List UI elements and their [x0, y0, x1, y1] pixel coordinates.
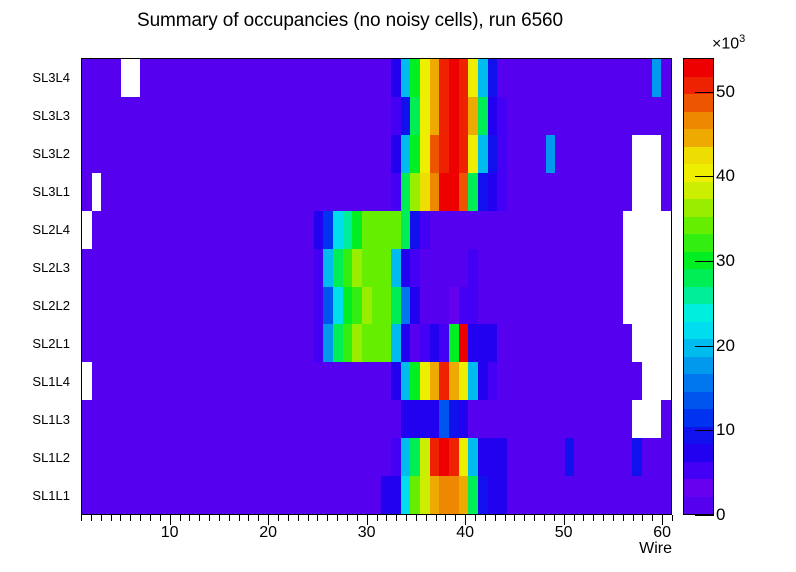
heatmap-cell: [92, 438, 102, 476]
heatmap-cell: [179, 173, 189, 211]
heatmap-cell: [372, 59, 382, 97]
x-axis-minor-tick: [524, 515, 525, 521]
heatmap-cell: [632, 324, 642, 362]
heatmap-cell: [169, 362, 179, 400]
heatmap-cell: [517, 97, 527, 135]
heatmap-cell: [632, 287, 642, 325]
heatmap-cell: [468, 59, 478, 97]
heatmap-cell: [314, 211, 324, 249]
heatmap-cell: [111, 438, 121, 476]
heatmap-cell: [130, 249, 140, 287]
heatmap-cell: [536, 362, 546, 400]
heatmap-cell: [227, 211, 237, 249]
y-axis-label: SL1L3: [0, 401, 77, 439]
heatmap-cell: [584, 476, 594, 514]
heatmap-cell: [121, 59, 131, 97]
heatmap-cell: [603, 97, 613, 135]
heatmap-cell: [314, 173, 324, 211]
heatmap-cell: [275, 59, 285, 97]
heatmap-cell: [198, 135, 208, 173]
heatmap-cell: [179, 59, 189, 97]
heatmap-row: [82, 173, 671, 211]
heatmap-cell: [555, 400, 565, 438]
heatmap-cell: [333, 173, 343, 211]
heatmap-cell: [217, 211, 227, 249]
x-axis-minor-tick: [495, 515, 496, 521]
heatmap-cell: [159, 287, 169, 325]
heatmap-cell: [536, 324, 546, 362]
heatmap-cell: [661, 324, 671, 362]
heatmap-cell: [478, 135, 488, 173]
heatmap-cell: [449, 362, 459, 400]
heatmap-cell: [642, 287, 652, 325]
heatmap-cell: [314, 59, 324, 97]
heatmap-cell: [372, 97, 382, 135]
colorbar-exponent-power: 3: [739, 33, 745, 45]
heatmap-cell: [632, 400, 642, 438]
heatmap-cell: [381, 173, 391, 211]
heatmap-cell: [198, 59, 208, 97]
heatmap-cell: [130, 211, 140, 249]
heatmap-cell: [188, 287, 198, 325]
heatmap-cell: [333, 249, 343, 287]
heatmap-cell: [410, 249, 420, 287]
heatmap-cell: [459, 173, 469, 211]
heatmap-cell: [188, 362, 198, 400]
heatmap-cell: [526, 211, 536, 249]
heatmap-cell: [507, 476, 517, 514]
heatmap-cell: [275, 135, 285, 173]
heatmap-cell: [536, 438, 546, 476]
x-axis-title: Wire: [600, 540, 672, 558]
heatmap-cell: [314, 476, 324, 514]
heatmap-cell: [574, 135, 584, 173]
heatmap-cell: [265, 362, 275, 400]
heatmap-cell: [237, 211, 247, 249]
heatmap-cell: [565, 249, 575, 287]
heatmap-cell: [198, 173, 208, 211]
heatmap-cell: [246, 173, 256, 211]
heatmap-cell: [497, 324, 507, 362]
heatmap-cell: [265, 135, 275, 173]
heatmap-cell: [488, 59, 498, 97]
heatmap-cell: [304, 438, 314, 476]
heatmap-cell: [82, 400, 92, 438]
heatmap-cell: [401, 173, 411, 211]
heatmap-cell: [111, 249, 121, 287]
heatmap-cell: [121, 362, 131, 400]
heatmap-cell: [217, 173, 227, 211]
heatmap-cell: [179, 438, 189, 476]
heatmap-cell: [526, 59, 536, 97]
heatmap-cell: [459, 249, 469, 287]
heatmap-cell: [304, 400, 314, 438]
heatmap-cell: [150, 362, 160, 400]
heatmap-cell: [285, 173, 295, 211]
heatmap-cell: [82, 211, 92, 249]
x-axis-minor-tick: [347, 515, 348, 521]
heatmap-cell: [237, 400, 247, 438]
heatmap-cell: [352, 97, 362, 135]
x-axis-minor-tick: [455, 515, 456, 521]
heatmap-cell: [613, 249, 623, 287]
x-axis-minor-tick: [583, 515, 584, 521]
heatmap-cell: [574, 362, 584, 400]
heatmap-cell: [420, 173, 430, 211]
heatmap-cell: [323, 211, 333, 249]
heatmap-cell: [140, 97, 150, 135]
heatmap-cell: [256, 249, 266, 287]
x-axis-minor-tick: [386, 515, 387, 521]
heatmap-cell: [468, 438, 478, 476]
heatmap-cell: [430, 287, 440, 325]
heatmap-cell: [237, 476, 247, 514]
heatmap-cell: [82, 97, 92, 135]
heatmap-cell: [101, 211, 111, 249]
heatmap-cell: [150, 287, 160, 325]
heatmap-cell: [352, 400, 362, 438]
heatmap-cell: [623, 476, 633, 514]
heatmap-cell: [623, 362, 633, 400]
heatmap-cell: [632, 135, 642, 173]
heatmap-cell: [140, 173, 150, 211]
heatmap-cell: [536, 249, 546, 287]
heatmap-cell: [159, 135, 169, 173]
heatmap-cell: [652, 476, 662, 514]
heatmap-cell: [526, 476, 536, 514]
heatmap-cell: [314, 249, 324, 287]
heatmap-cell: [459, 400, 469, 438]
heatmap-cell: [217, 287, 227, 325]
heatmap-cell: [652, 173, 662, 211]
heatmap-cell: [323, 362, 333, 400]
heatmap-cell: [304, 362, 314, 400]
heatmap-cell: [430, 211, 440, 249]
heatmap-cell: [130, 173, 140, 211]
heatmap-cell: [92, 324, 102, 362]
heatmap-cell: [265, 287, 275, 325]
heatmap-cell: [488, 135, 498, 173]
heatmap-cell: [121, 438, 131, 476]
heatmap-cell: [420, 438, 430, 476]
heatmap-cell: [265, 173, 275, 211]
colorbar-tick: [695, 430, 714, 431]
heatmap-cell: [121, 249, 131, 287]
heatmap-cell: [179, 211, 189, 249]
heatmap-cell: [555, 97, 565, 135]
heatmap-cell: [159, 59, 169, 97]
heatmap-cell: [352, 362, 362, 400]
heatmap-cell: [323, 59, 333, 97]
heatmap-cell: [169, 400, 179, 438]
x-axis-minor-tick: [189, 515, 190, 521]
heatmap-cell: [507, 362, 517, 400]
heatmap-cell: [410, 362, 420, 400]
heatmap-cell: [314, 135, 324, 173]
heatmap-cell: [150, 173, 160, 211]
heatmap-cell: [459, 287, 469, 325]
heatmap-cell: [92, 211, 102, 249]
x-axis-tick-label: 30: [358, 524, 376, 542]
heatmap-cell: [140, 211, 150, 249]
x-axis-minor-tick: [642, 515, 643, 521]
heatmap-cell: [478, 476, 488, 514]
heatmap-cell: [352, 438, 362, 476]
heatmap-cell: [265, 59, 275, 97]
heatmap-cell: [92, 249, 102, 287]
heatmap-cell: [613, 400, 623, 438]
heatmap-cell: [101, 362, 111, 400]
heatmap-cell: [208, 249, 218, 287]
heatmap-cell: [565, 362, 575, 400]
heatmap-cell: [285, 97, 295, 135]
heatmap-cell: [246, 362, 256, 400]
heatmap-cell: [179, 287, 189, 325]
heatmap-cell: [265, 97, 275, 135]
heatmap-cell: [333, 324, 343, 362]
heatmap-cell: [517, 438, 527, 476]
heatmap-cell: [333, 211, 343, 249]
x-axis-minor-tick: [229, 515, 230, 521]
heatmap-cell: [449, 249, 459, 287]
heatmap-cell: [478, 211, 488, 249]
heatmap-cell: [275, 287, 285, 325]
heatmap-cell: [314, 362, 324, 400]
heatmap-cell: [497, 173, 507, 211]
heatmap-cell: [237, 135, 247, 173]
heatmap-cell: [546, 173, 556, 211]
heatmap-cell: [111, 362, 121, 400]
heatmap-cell: [555, 173, 565, 211]
heatmap-cell: [333, 476, 343, 514]
colorbar-tick-label: 10: [716, 420, 735, 440]
heatmap-cell: [468, 135, 478, 173]
heatmap-cell: [478, 438, 488, 476]
heatmap-cell: [603, 476, 613, 514]
heatmap-cell: [140, 324, 150, 362]
heatmap-cell: [430, 173, 440, 211]
heatmap-cell: [642, 59, 652, 97]
y-axis-label: SL2L2: [0, 286, 77, 324]
heatmap-cell: [574, 59, 584, 97]
heatmap-cell: [488, 438, 498, 476]
heatmap-cell: [410, 59, 420, 97]
x-axis-minor-tick: [544, 515, 545, 521]
heatmap-cell: [401, 438, 411, 476]
heatmap-cell: [208, 287, 218, 325]
heatmap-cell: [275, 476, 285, 514]
heatmap-cell: [323, 438, 333, 476]
heatmap-cell: [343, 211, 353, 249]
heatmap-cell: [227, 287, 237, 325]
heatmap-cell: [642, 173, 652, 211]
heatmap-cell: [198, 400, 208, 438]
heatmap-cell: [603, 438, 613, 476]
heatmap-cell: [140, 400, 150, 438]
heatmap-cell: [478, 362, 488, 400]
heatmap-cell: [304, 97, 314, 135]
heatmap-cell: [256, 476, 266, 514]
heatmap-cell: [507, 287, 517, 325]
heatmap-cell: [632, 173, 642, 211]
heatmap-cell: [304, 324, 314, 362]
heatmap-cell: [555, 362, 565, 400]
heatmap-cell: [632, 362, 642, 400]
heatmap-cell: [101, 476, 111, 514]
heatmap-cell: [652, 211, 662, 249]
heatmap-cell: [111, 476, 121, 514]
heatmap-cell: [459, 324, 469, 362]
heatmap-cell: [150, 249, 160, 287]
heatmap-cell: [217, 97, 227, 135]
heatmap-grid: [82, 59, 671, 514]
y-axis-label: SL1L1: [0, 477, 77, 515]
heatmap-cell: [594, 97, 604, 135]
heatmap-cell: [565, 438, 575, 476]
heatmap-cell: [478, 249, 488, 287]
x-axis-minor-tick: [534, 515, 535, 521]
heatmap-cell: [294, 362, 304, 400]
colorbar-tick-labels: 01020304050: [716, 58, 786, 515]
heatmap-cell: [246, 211, 256, 249]
heatmap-cell: [179, 135, 189, 173]
heatmap-cell: [111, 324, 121, 362]
heatmap-cell: [546, 438, 556, 476]
heatmap-cell: [208, 173, 218, 211]
heatmap-cell: [439, 249, 449, 287]
heatmap-cell: [381, 249, 391, 287]
heatmap-cell: [343, 324, 353, 362]
heatmap-cell: [526, 287, 536, 325]
heatmap-cell: [497, 400, 507, 438]
heatmap-cell: [111, 211, 121, 249]
heatmap-cell: [381, 476, 391, 514]
heatmap-cell: [352, 324, 362, 362]
x-axis-minor-tick: [672, 515, 673, 521]
x-axis-minor-tick: [209, 515, 210, 521]
heatmap-cell: [381, 362, 391, 400]
heatmap-cell: [488, 97, 498, 135]
heatmap-cell: [179, 249, 189, 287]
heatmap-cell: [372, 476, 382, 514]
heatmap-cell: [661, 362, 671, 400]
heatmap-row: [82, 97, 671, 135]
heatmap-cell: [584, 173, 594, 211]
heatmap-cell: [140, 476, 150, 514]
heatmap-cell: [497, 287, 507, 325]
heatmap-cell: [130, 59, 140, 97]
heatmap-cell: [652, 97, 662, 135]
heatmap-cell: [82, 287, 92, 325]
heatmap-cell: [507, 400, 517, 438]
heatmap-cell: [497, 135, 507, 173]
heatmap-cell: [130, 287, 140, 325]
heatmap-cell: [565, 476, 575, 514]
heatmap-cell: [430, 249, 440, 287]
heatmap-cell: [372, 135, 382, 173]
heatmap-cell: [227, 324, 237, 362]
heatmap-cell: [439, 400, 449, 438]
heatmap-cell: [362, 249, 372, 287]
heatmap-cell: [459, 135, 469, 173]
colorbar-tick: [695, 261, 714, 262]
heatmap-cell: [507, 438, 517, 476]
heatmap-cell: [275, 324, 285, 362]
heatmap-cell: [265, 476, 275, 514]
heatmap-cell: [623, 287, 633, 325]
heatmap-cell: [488, 287, 498, 325]
heatmap-cell: [323, 97, 333, 135]
heatmap-plot-area[interactable]: [81, 58, 672, 515]
heatmap-cell: [517, 476, 527, 514]
x-axis-tick-label: 50: [555, 524, 573, 542]
x-axis-minor-tick: [111, 515, 112, 521]
heatmap-cell: [603, 59, 613, 97]
heatmap-cell: [294, 400, 304, 438]
heatmap-cell: [265, 211, 275, 249]
heatmap-cell: [198, 438, 208, 476]
heatmap-cell: [140, 59, 150, 97]
heatmap-cell: [391, 211, 401, 249]
colorbar-tick-label: 30: [716, 251, 735, 271]
x-axis-minor-tick: [337, 515, 338, 521]
heatmap-cell: [227, 97, 237, 135]
heatmap-cell: [256, 362, 266, 400]
heatmap-cell: [661, 476, 671, 514]
heatmap-cell: [526, 400, 536, 438]
heatmap-cell: [410, 476, 420, 514]
heatmap-cell: [565, 324, 575, 362]
heatmap-cell: [555, 59, 565, 97]
heatmap-cell: [536, 135, 546, 173]
y-axis-label: SL3L3: [0, 96, 77, 134]
heatmap-cell: [130, 362, 140, 400]
heatmap-cell: [285, 249, 295, 287]
heatmap-cell: [439, 287, 449, 325]
heatmap-cell: [497, 438, 507, 476]
heatmap-cell: [584, 324, 594, 362]
heatmap-cell: [362, 362, 372, 400]
heatmap-cell: [256, 324, 266, 362]
heatmap-cell: [208, 438, 218, 476]
heatmap-cell: [130, 476, 140, 514]
heatmap-cell: [546, 324, 556, 362]
heatmap-cell: [478, 324, 488, 362]
heatmap-cell: [150, 476, 160, 514]
heatmap-cell: [507, 135, 517, 173]
heatmap-cell: [294, 135, 304, 173]
heatmap-cell: [546, 97, 556, 135]
heatmap-cell: [517, 400, 527, 438]
heatmap-cell: [304, 287, 314, 325]
heatmap-cell: [661, 173, 671, 211]
heatmap-cell: [468, 400, 478, 438]
x-axis-minor-tick: [308, 515, 309, 521]
heatmap-cell: [217, 362, 227, 400]
heatmap-cell: [130, 438, 140, 476]
heatmap-cell: [439, 135, 449, 173]
heatmap-cell: [555, 287, 565, 325]
heatmap-cell: [333, 97, 343, 135]
heatmap-cell: [343, 400, 353, 438]
heatmap-cell: [584, 287, 594, 325]
heatmap-cell: [584, 97, 594, 135]
x-axis-minor-tick: [485, 515, 486, 521]
heatmap-cell: [333, 438, 343, 476]
heatmap-row: [82, 59, 671, 97]
heatmap-cell: [92, 173, 102, 211]
heatmap-cell: [632, 97, 642, 135]
